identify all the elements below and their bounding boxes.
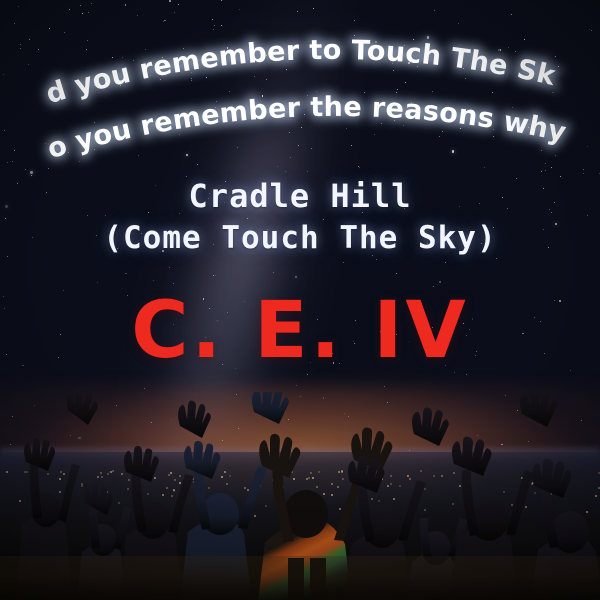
night-sky-gradient: [0, 0, 600, 600]
album-cover-artwork: Did you remember to Touch The Sky? Did y…: [0, 0, 600, 600]
